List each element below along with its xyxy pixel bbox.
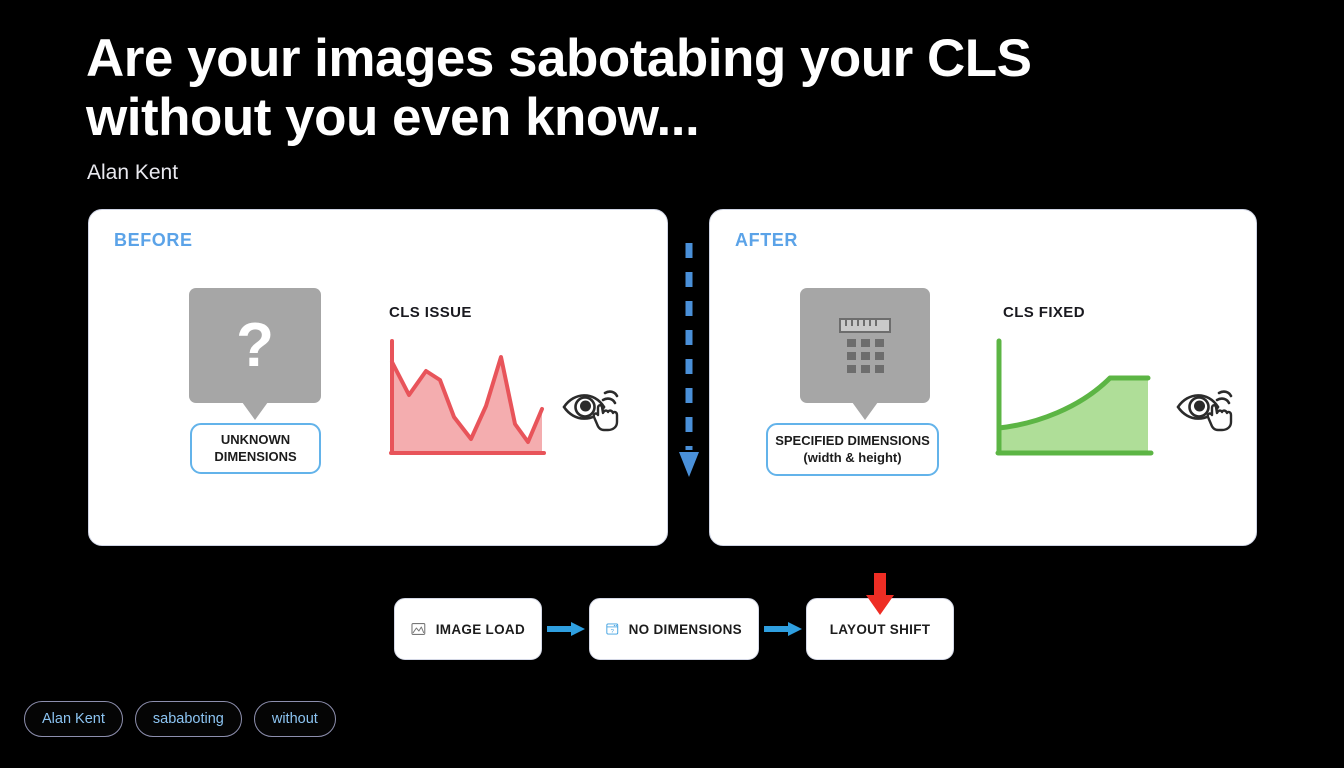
browser-question-icon: ? bbox=[606, 615, 619, 643]
eye-cursor-icon bbox=[1175, 380, 1241, 434]
red-arrow-shaft bbox=[874, 573, 886, 597]
flow-step-image-load[interactable]: IMAGE LOAD bbox=[394, 598, 542, 660]
specified-dimensions-label: SPECIFIED DIMENSIONS (width & height) bbox=[766, 423, 939, 476]
specified-dimensions-line2: (width & height) bbox=[803, 450, 901, 467]
specified-dimensions-line1: SPECIFIED DIMENSIONS bbox=[775, 433, 930, 450]
eye-cursor-icon bbox=[561, 380, 627, 434]
page-title: Are your images sabotabing your CLS with… bbox=[86, 30, 1216, 148]
slide-root: Are your images sabotabing your CLS with… bbox=[0, 0, 1344, 768]
flow-arrow-2 bbox=[759, 621, 806, 637]
cls-fixed-area-fill bbox=[999, 378, 1148, 452]
flow-step-no-dimensions[interactable]: ? NO DIMENSIONS bbox=[589, 598, 759, 660]
flow-step-label: IMAGE LOAD bbox=[436, 622, 525, 637]
cls-fixed-chart-title: CLS FIXED bbox=[1003, 304, 1085, 321]
eye-pupil bbox=[1194, 401, 1205, 412]
red-arrow-head bbox=[866, 595, 894, 615]
unknown-dimensions-label: UNKNOWN DIMENSIONS bbox=[190, 423, 321, 474]
before-card: BEFORE ? UNKNOWN DIMENSIONS CLS ISSUE bbox=[88, 209, 668, 546]
eye-motion-line-1 bbox=[605, 392, 617, 396]
eye-pupil bbox=[580, 401, 591, 412]
tag-chip[interactable]: Alan Kent bbox=[24, 701, 123, 737]
eye-motion-line-2 bbox=[1217, 399, 1229, 403]
after-card: AFTER SPECIFIED DIMENSIONS (width & heig… bbox=[709, 209, 1257, 546]
after-image-placeholder bbox=[800, 288, 930, 403]
ruler-keypad-icon bbox=[839, 318, 891, 373]
before-card-heading: BEFORE bbox=[114, 230, 193, 251]
browser-dot-2 bbox=[616, 625, 617, 626]
cls-fixed-area-chart bbox=[988, 336, 1158, 461]
red-down-arrow-icon bbox=[863, 573, 897, 617]
author-byline: Alan Kent bbox=[87, 161, 178, 185]
after-card-heading: AFTER bbox=[735, 230, 798, 251]
arrow-head bbox=[788, 622, 802, 636]
image-placeholder-icon bbox=[411, 616, 426, 642]
keypad-icon bbox=[847, 339, 884, 373]
cls-issue-area-fill bbox=[392, 357, 542, 452]
unknown-dimensions-line1: UNKNOWN bbox=[221, 432, 290, 449]
cls-issue-area-chart bbox=[382, 336, 548, 461]
hand-cursor-icon bbox=[594, 405, 617, 430]
flow-step-label: LAYOUT SHIFT bbox=[830, 622, 931, 637]
flow-arrow-1 bbox=[542, 621, 589, 637]
cls-flow-diagram: IMAGE LOAD ? NO DIMENSIONS bbox=[394, 598, 954, 660]
connector-arrowhead bbox=[679, 452, 699, 477]
image-frame bbox=[412, 624, 425, 635]
hand-cursor-icon bbox=[1208, 405, 1231, 430]
arrow-right-icon bbox=[763, 621, 803, 637]
question-mark-icon: ? bbox=[236, 315, 274, 377]
arrow-head bbox=[571, 622, 585, 636]
placeholder-bubble: ? bbox=[189, 288, 321, 403]
cls-issue-chart-title: CLS ISSUE bbox=[389, 304, 472, 321]
flow-step-label: NO DIMENSIONS bbox=[629, 622, 742, 637]
placeholder-bubble bbox=[800, 288, 930, 403]
before-image-placeholder: ? bbox=[189, 288, 321, 403]
dashed-down-arrow-icon bbox=[678, 243, 700, 485]
eye-motion-line-1 bbox=[1219, 392, 1231, 396]
eye-motion-line-2 bbox=[603, 399, 615, 403]
tag-chip[interactable]: without bbox=[254, 701, 336, 737]
tag-list: Alan Kent sababoting without bbox=[24, 701, 336, 737]
arrow-right-icon bbox=[546, 621, 586, 637]
ruler-icon bbox=[839, 318, 891, 333]
browser-dot-1 bbox=[614, 625, 615, 626]
tag-chip[interactable]: sababoting bbox=[135, 701, 242, 737]
flow-step-layout-shift[interactable]: LAYOUT SHIFT bbox=[806, 598, 954, 660]
unknown-dimensions-line2: DIMENSIONS bbox=[214, 449, 296, 466]
